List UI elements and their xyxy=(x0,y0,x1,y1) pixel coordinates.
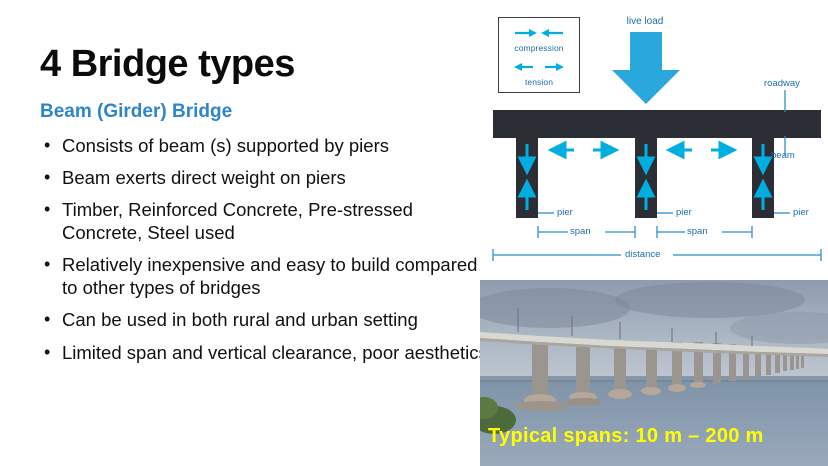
bullet-marker: • xyxy=(44,166,50,189)
bullet-marker: • xyxy=(44,253,50,276)
text-column: 4 Bridge types Beam (Girder) Bridge •Con… xyxy=(40,45,490,373)
bridge-photo: Typical spans: 10 m – 200 m xyxy=(480,280,828,466)
photo-caption: Typical spans: 10 m – 200 m xyxy=(488,425,764,448)
distance-label: distance xyxy=(625,249,660,260)
page-title: 4 Bridge types xyxy=(40,45,490,85)
list-item-label: Limited span and vertical clearance, poo… xyxy=(62,342,488,363)
slide-subtitle: Beam (Girder) Bridge xyxy=(40,101,490,124)
slide-root: 4 Bridge types Beam (Girder) Bridge •Con… xyxy=(0,0,828,466)
list-item: •Consists of beam (s) supported by piers xyxy=(40,134,490,157)
beam-label: beam xyxy=(771,150,795,161)
list-item: •Limited span and vertical clearance, po… xyxy=(40,341,490,364)
bullet-list: •Consists of beam (s) supported by piers… xyxy=(40,134,490,364)
list-item: •Timber, Reinforced Concrete, Pre-stress… xyxy=(40,198,490,244)
span-label-2: span xyxy=(687,226,708,237)
span-label-1: span xyxy=(570,226,591,237)
list-item-label: Can be used in both rural and urban sett… xyxy=(62,309,418,330)
list-item-label: Relatively inexpensive and easy to build… xyxy=(62,254,477,298)
list-item: •Can be used in both rural and urban set… xyxy=(40,308,490,331)
list-item: •Relatively inexpensive and easy to buil… xyxy=(40,253,490,299)
list-item-label: Beam exerts direct weight on piers xyxy=(62,167,346,188)
roadway-label: roadway xyxy=(764,78,800,89)
beam-bridge-diagram: compression tension live load xyxy=(480,0,828,278)
pier-label-3: pier xyxy=(793,207,809,218)
list-item-label: Consists of beam (s) supported by piers xyxy=(62,135,389,156)
bullet-marker: • xyxy=(44,198,50,221)
list-item-label: Timber, Reinforced Concrete, Pre-stresse… xyxy=(62,199,413,243)
pier-label-2: pier xyxy=(676,207,692,218)
list-item: •Beam exerts direct weight on piers xyxy=(40,166,490,189)
bullet-marker: • xyxy=(44,308,50,331)
force-arrow-overlay xyxy=(480,0,828,278)
bullet-marker: • xyxy=(44,341,50,364)
bullet-marker: • xyxy=(44,134,50,157)
pier-label-1: pier xyxy=(557,207,573,218)
